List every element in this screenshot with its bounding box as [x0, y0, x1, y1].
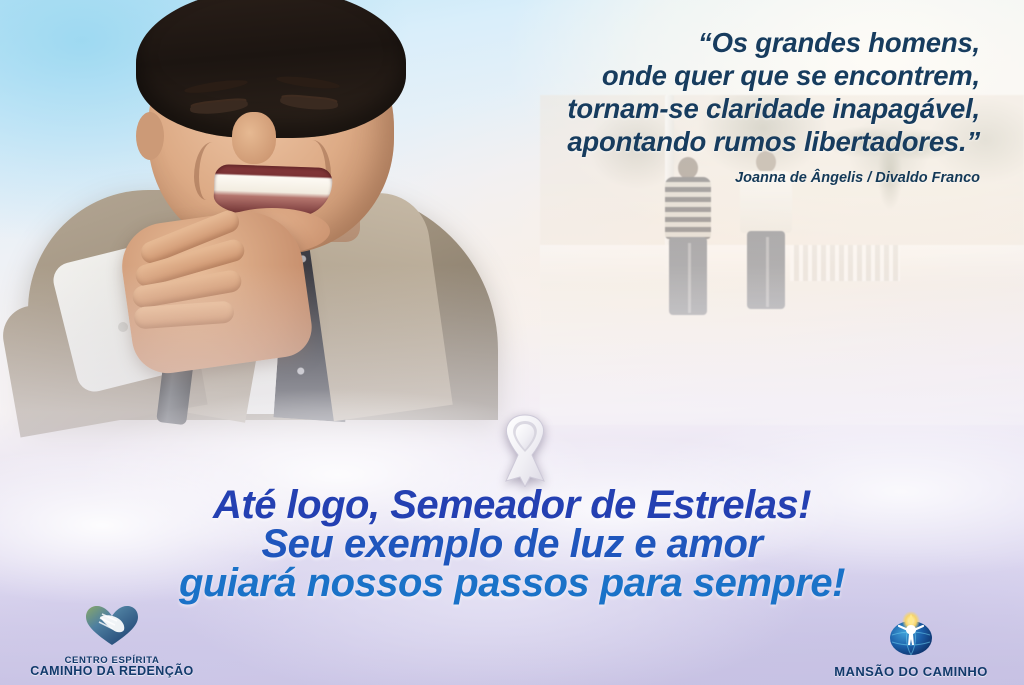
headline-line-3: guiará nossos passos para sempre!	[0, 564, 1024, 603]
quote-line-2: onde quer que se encontrem,	[420, 59, 980, 92]
portrait-hair	[136, 0, 406, 138]
quote-block: “Os grandes homens, onde quer que se enc…	[420, 26, 980, 158]
logo-mansao-do-caminho: MANSÃO DO CAMINHO	[806, 611, 1016, 677]
logo-left-label: CENTRO ESPÍRITA CAMINHO DA REDENÇÃO	[12, 655, 212, 677]
portrait-nose	[232, 112, 276, 164]
portrait-ear	[136, 112, 164, 160]
memorial-poster: “Os grandes homens, onde quer que se enc…	[0, 0, 1024, 685]
headline-line-2: Seu exemplo de luz e amor	[0, 525, 1024, 564]
quote-attribution: Joanna de Ângelis / Divaldo Franco	[420, 170, 980, 186]
headline-block: Até logo, Semeador de Estrelas! Seu exem…	[0, 486, 1024, 603]
heart-hands-icon	[12, 604, 212, 651]
logo-centro-espirita: CENTRO ESPÍRITA CAMINHO DA REDENÇÃO	[12, 604, 212, 677]
mourning-ribbon-icon	[487, 409, 563, 487]
quote-line-4: apontando rumos libertadores.”	[420, 125, 980, 158]
quote-line-1: “Os grandes homens,	[420, 26, 980, 59]
logo-left-line-2: CAMINHO DA REDENÇÃO	[12, 666, 212, 677]
headline-line-1: Até logo, Semeador de Estrelas!	[0, 486, 1024, 525]
logo-right-line-1: MANSÃO DO CAMINHO	[806, 666, 1016, 677]
quote-line-3: tornam-se claridade inapagável,	[420, 92, 980, 125]
globe-figure-light-icon	[806, 611, 1016, 662]
logo-right-label: MANSÃO DO CAMINHO	[806, 666, 1016, 677]
figure-torso	[665, 177, 711, 239]
